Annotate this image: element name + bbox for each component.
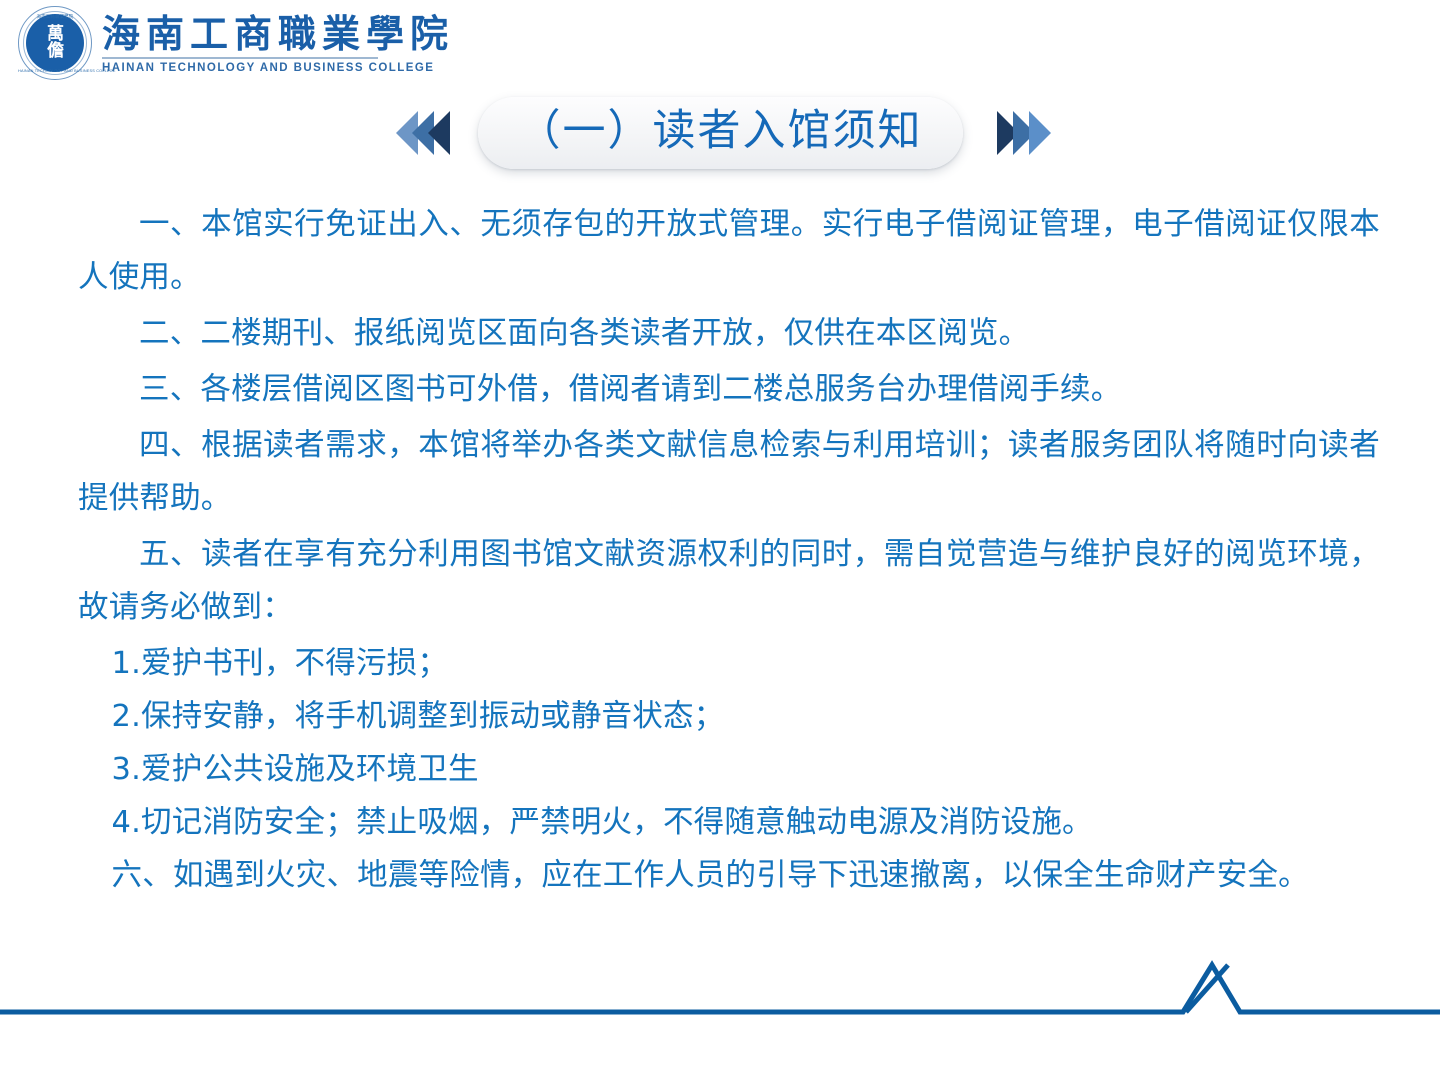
slide-title-row: （一）读者入馆须知 [0,92,1440,174]
brand-header: 海南工商職業學院 HAINAN TECHNOLOGY AND BUSINESS … [18,6,454,80]
notice-subitem-3: 3.爱护公共设施及环境卫生 [78,743,1380,796]
notice-item-4: 四、根据读者需求，本馆将举办各类文献信息检索与利用培训；读者服务团队将随时向读者… [78,419,1380,525]
notice-subitem-1: 1.爱护书刊，不得污损； [78,637,1380,690]
brand-divider [102,57,378,59]
college-emblem-logo: 海南工商職業學院 HAINAN TECHNOLOGY AND BUSINESS … [18,6,92,80]
notice-item-3: 三、各楼层借阅区图书可外借，借阅者请到二楼总服务台办理借阅手续。 [78,363,1380,416]
notice-item-2: 二、二楼期刊、报纸阅览区面向各类读者开放，仅供在本区阅览。 [78,307,1380,360]
footer-decoration [0,960,1440,1080]
page-title: （一）读者入馆须知 [518,106,923,157]
notice-subitem-4: 4.切记消防安全；禁止吸烟，严禁明火，不得随意触动电源及消防设施。 [78,796,1380,849]
notice-item-5: 五、读者在享有充分利用图书馆文献资源权利的同时，需自觉营造与维护良好的阅览环境，… [78,528,1380,634]
right-chevron-group [997,111,1045,155]
brand-wordmark: 海南工商職業學院 HAINAN TECHNOLOGY AND BUSINESS … [102,12,454,75]
notice-body: 一、本馆实行免证出入、无须存包的开放式管理。实行电子借阅证管理，电子借阅证仅限本… [78,198,1380,902]
notice-subitem-2: 2.保持安静，将手机调整到振动或静音状态； [78,690,1380,743]
footer-peak-inner-stroke [1186,965,1228,1012]
emblem-glyph-bottom: 儋 [47,43,63,60]
chevron-left-icon-3 [428,111,450,155]
college-name-en: HAINAN TECHNOLOGY AND BUSINESS COLLEGE [102,62,454,74]
slide-title-pill: （一）读者入馆须知 [478,97,963,170]
chevron-right-icon-3 [1029,111,1051,155]
left-chevron-group [396,111,444,155]
notice-item-1: 一、本馆实行免证出入、无须存包的开放式管理。实行电子借阅证管理，电子借阅证仅限本… [78,198,1380,304]
college-name-cn: 海南工商職業學院 [102,12,454,56]
notice-item-6: 六、如遇到火灾、地震等险情，应在工作人员的引导下迅速撤离，以保全生命财产安全。 [78,849,1380,902]
footer-line-with-peak [0,965,1440,1012]
emblem-center-glyph: 萬 儋 [26,14,84,72]
